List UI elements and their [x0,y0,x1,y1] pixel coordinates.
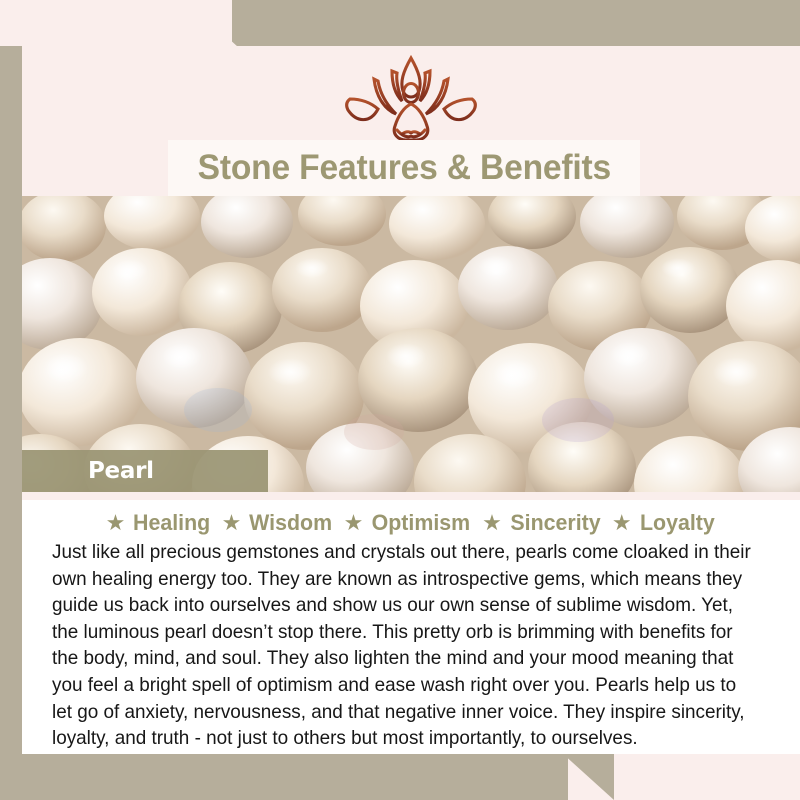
benefit-label: Loyalty [640,510,715,536]
benefit-item: ★ Sincerity [482,510,603,536]
photo-body-divider [22,492,800,500]
star-icon: ★ [344,512,364,534]
benefit-label: Healing [133,510,210,536]
description-text: Just like all precious gemstones and cry… [52,539,752,752]
benefits-row: ★ Healing ★ Wisdom ★ Optimism ★ Sincerit… [34,500,788,538]
star-icon: ★ [222,512,242,534]
benefit-label: Sincerity [510,510,600,536]
content-card: BUDDHA STONES Stone Features & Benefits [22,46,800,754]
body-section: ★ Healing ★ Wisdom ★ Optimism ★ Sincerit… [22,500,800,754]
benefit-label: Wisdom [249,510,332,536]
stone-name: Pearl [88,458,154,484]
pearls-photograph [22,196,800,492]
header: BUDDHA STONES Stone Features & Benefits [22,46,800,196]
benefit-label: Optimism [372,510,471,536]
benefit-item: ★ Wisdom [222,510,335,536]
title-banner: Stone Features & Benefits [168,140,640,196]
benefit-item: ★ Optimism [344,510,474,536]
poster-root: BUDDHA STONES Stone Features & Benefits [0,0,800,800]
stone-photo: Pearl [22,196,800,492]
star-icon: ★ [482,512,502,534]
star-icon: ★ [612,512,632,534]
benefit-item: ★ Healing [106,510,213,536]
page-title: Stone Features & Benefits [197,148,610,188]
stone-name-bar: Pearl [22,450,268,492]
star-icon: ★ [106,512,126,534]
benefit-item: ★ Loyalty [612,510,717,536]
